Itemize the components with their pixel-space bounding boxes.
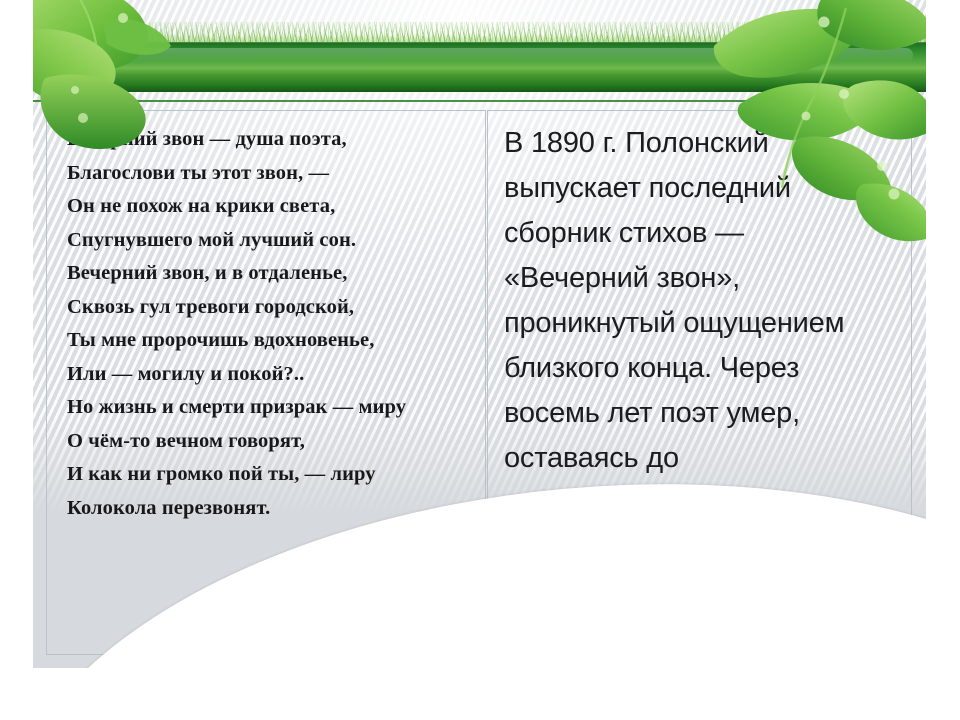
poem-line: И как ни громко пой ты, — лиру [67,458,471,492]
poem-line: Или — могилу и покой?.. [67,358,471,392]
biography-line: «Вечерний звон», [504,256,901,301]
biography-line: В 1890 г. Полонский [504,121,901,166]
biography-line: близкого конца. Через [504,346,901,391]
poem-line: Он не похож на крики света, [67,190,471,224]
poem-line: Благослови ты этот звон, — [67,157,471,191]
poem-line: О чём-то вечном говорят, [67,425,471,459]
poem-line: Но жизнь и смерти призрак — миру [67,391,471,425]
biography-line: восемь лет поэт умер, [504,391,901,436]
poem-line: Спугнувшего мой лучший сон. [67,224,471,258]
slide-body: Вечерний звон — душа поэта, Благослови т… [33,0,926,668]
poem-text: Вечерний звон — душа поэта, Благослови т… [47,111,485,525]
poem-line: Сквозь гул тревоги городской, [67,291,471,325]
poem-line: Вечерний звон, и в отдаленье, [67,257,471,291]
poem-line: Ты мне пророчишь вдохновенье, [67,324,471,358]
biography-line: сборник стихов — [504,211,901,256]
biography-line: выпускает последний [504,166,901,211]
biography-line: оставаясь до [504,436,901,481]
biography-line: проникнутый ощущением [504,301,901,346]
poem-line: Вечерний звон — душа поэта, [67,123,471,157]
presentation-slide: Вечерний звон — душа поэта, Благослови т… [0,0,960,720]
